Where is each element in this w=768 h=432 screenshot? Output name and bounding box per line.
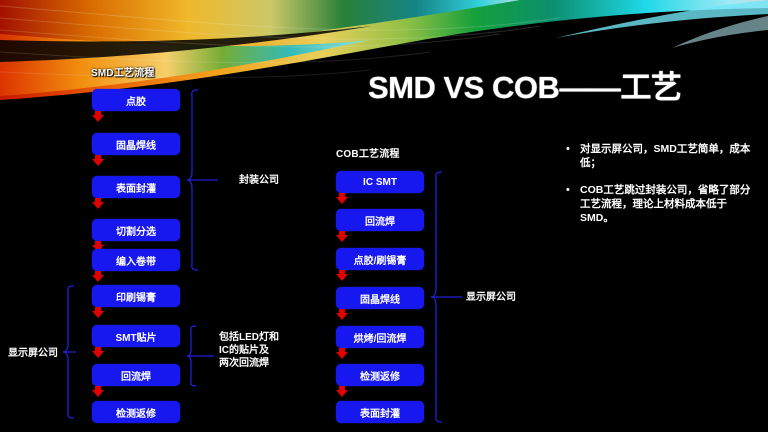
flow-node[interactable]: 编入卷带: [92, 249, 180, 271]
list-item: • COB工艺跳过封装公司，省略了部分工艺流程，理论上材料成本低于SMD。: [566, 183, 756, 225]
bullet-list: • 对显示屏公司，SMD工艺简单，成本低； • COB工艺跳过封装公司，省略了部…: [566, 142, 756, 238]
brace-smd-display: [62, 284, 96, 425]
flow-arrow-down-icon: [92, 202, 104, 209]
smd-flow-heading: SMD工艺流程: [91, 64, 155, 79]
annotation-smd-packaging-company: 封装公司: [239, 174, 279, 187]
annotation-smd-display-company: 显示屏公司: [8, 347, 58, 360]
flow-node[interactable]: 回流焊: [92, 364, 180, 386]
flow-node[interactable]: 表面封灌: [336, 401, 424, 423]
list-item: • 对显示屏公司，SMD工艺简单，成本低；: [566, 142, 756, 170]
flow-node[interactable]: 点胶: [92, 89, 180, 111]
flow-arrow-down-icon: [336, 390, 348, 397]
flow-arrow-down-icon: [336, 197, 348, 204]
flow-node[interactable]: SMT贴片: [92, 325, 180, 347]
flow-node[interactable]: 固晶焊线: [336, 287, 424, 309]
flow-node[interactable]: 检测返修: [336, 364, 424, 386]
brace-smd-packaging: [186, 88, 220, 277]
slide-canvas: SMD VS COB——工艺 SMD工艺流程 COB工艺流程 点胶 固晶焊线 表…: [0, 0, 768, 432]
cob-flow-heading: COB工艺流程: [336, 145, 400, 160]
flow-arrow-down-icon: [336, 235, 348, 242]
flow-arrow-down-icon: [336, 352, 348, 359]
flow-arrow-down-icon: [92, 159, 104, 166]
flow-node[interactable]: IC SMT: [336, 171, 424, 193]
brace-smd-note: [186, 324, 216, 393]
bullet-text: COB工艺跳过封装公司，省略了部分工艺流程，理论上材料成本低于SMD。: [580, 183, 756, 225]
flow-node[interactable]: 检测返修: [92, 401, 180, 423]
flow-node[interactable]: 烘烤/回流焊: [336, 326, 424, 348]
brace-cob-display: [430, 170, 464, 429]
bullet-dot-icon: •: [566, 142, 580, 170]
page-title: SMD VS COB——工艺: [368, 62, 760, 107]
flow-arrow-down-icon: [92, 275, 104, 282]
annotation-smd-note: 包括LED灯和 IC的贴片及 两次回流焊: [219, 331, 279, 370]
flow-node[interactable]: 印刷锡膏: [92, 285, 180, 307]
flow-node[interactable]: 固晶焊线: [92, 133, 180, 155]
flow-node[interactable]: 切割分选: [92, 219, 180, 241]
bullet-text: 对显示屏公司，SMD工艺简单，成本低；: [580, 142, 756, 170]
annotation-cob-display-company: 显示屏公司: [466, 291, 516, 304]
flow-arrow-down-icon: [92, 115, 104, 122]
flow-node[interactable]: 点胶/刷锡膏: [336, 248, 424, 270]
flow-node[interactable]: 表面封灌: [92, 176, 180, 198]
flow-node[interactable]: 回流焊: [336, 209, 424, 231]
flow-arrow-down-icon: [336, 274, 348, 281]
flow-arrow-down-icon: [336, 313, 348, 320]
bullet-dot-icon: •: [566, 183, 580, 225]
